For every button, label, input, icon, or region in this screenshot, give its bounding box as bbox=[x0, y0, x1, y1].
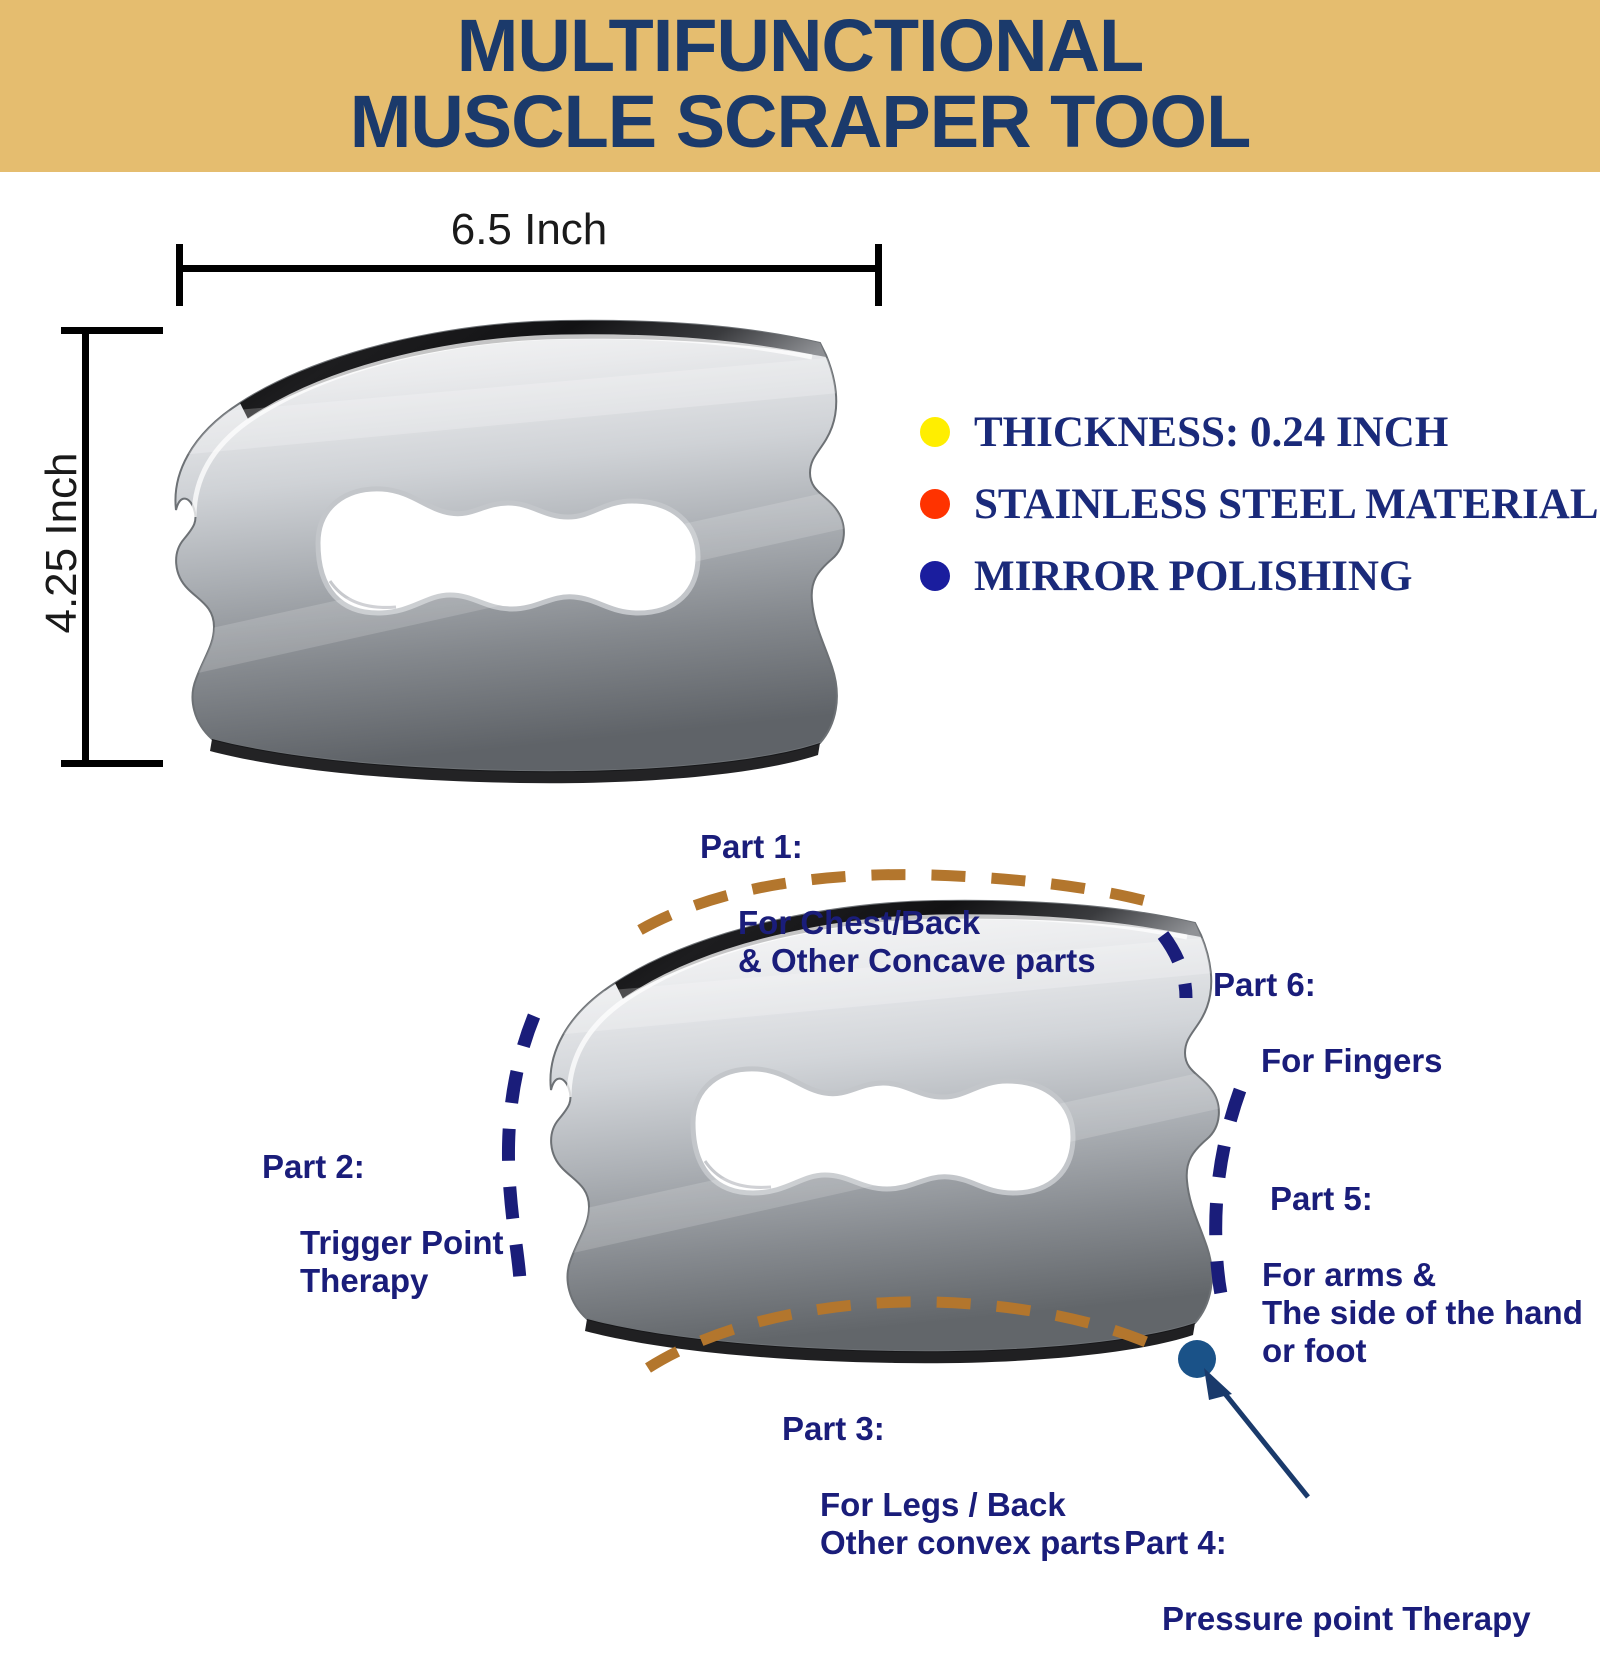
part1-heading: Part 1: bbox=[700, 828, 1096, 866]
spec-label: MIRROR POLISHING bbox=[974, 552, 1412, 601]
part3-description: For Legs / Back Other convex parts bbox=[820, 1486, 1121, 1562]
part3-heading: Part 3: bbox=[782, 1410, 1121, 1448]
part5-heading: Part 5: bbox=[1270, 1180, 1583, 1218]
part6-heading: Part 6: bbox=[1213, 966, 1443, 1004]
part5-description: For arms & The side of the hand or foot bbox=[1262, 1256, 1583, 1370]
part2-description: Trigger Point Therapy bbox=[300, 1224, 504, 1300]
part4-callout: Part 4: Pressure point Therapy bbox=[1124, 1486, 1531, 1676]
spec-label: STAINLESS STEEL MATERIAL bbox=[974, 480, 1599, 529]
bullet-dot-icon bbox=[920, 417, 950, 447]
width-dimension-line bbox=[176, 265, 882, 272]
product-image-dimension-view bbox=[120, 295, 910, 785]
spec-label: THICKNESS: 0.24 INCH bbox=[974, 408, 1448, 457]
spec-item-material: STAINLESS STEEL MATERIAL bbox=[920, 468, 1590, 540]
spec-item-polishing: MIRROR POLISHING bbox=[920, 540, 1590, 612]
header-banner: MULTIFUNCTIONAL MUSCLE SCRAPER TOOL bbox=[0, 0, 1600, 172]
width-dimension-label: 6.5 Inch bbox=[176, 205, 882, 255]
bullet-dot-icon bbox=[920, 489, 950, 519]
part4-description: Pressure point Therapy bbox=[1162, 1600, 1531, 1638]
part1-callout: Part 1: For Chest/Back & Other Concave p… bbox=[700, 790, 1096, 1018]
part2-callout: Part 2: Trigger Point Therapy bbox=[262, 1110, 504, 1338]
height-dimension-label: 4.25 Inch bbox=[37, 323, 87, 763]
spec-list: THICKNESS: 0.24 INCH STAINLESS STEEL MAT… bbox=[920, 396, 1590, 612]
part5-callout: Part 5: For arms & The side of the hand … bbox=[1262, 1142, 1583, 1408]
part2-heading: Part 2: bbox=[262, 1148, 504, 1186]
part4-heading: Part 4: bbox=[1124, 1524, 1531, 1562]
part3-callout: Part 3: For Legs / Back Other convex par… bbox=[782, 1372, 1121, 1600]
part1-description: For Chest/Back & Other Concave parts bbox=[738, 904, 1096, 980]
bullet-dot-icon bbox=[920, 561, 950, 591]
spec-item-thickness: THICKNESS: 0.24 INCH bbox=[920, 396, 1590, 468]
page-title: MULTIFUNCTIONAL MUSCLE SCRAPER TOOL bbox=[0, 8, 1600, 160]
part6-callout: Part 6: For Fingers bbox=[1213, 928, 1443, 1118]
part6-description: For Fingers bbox=[1261, 1042, 1443, 1080]
